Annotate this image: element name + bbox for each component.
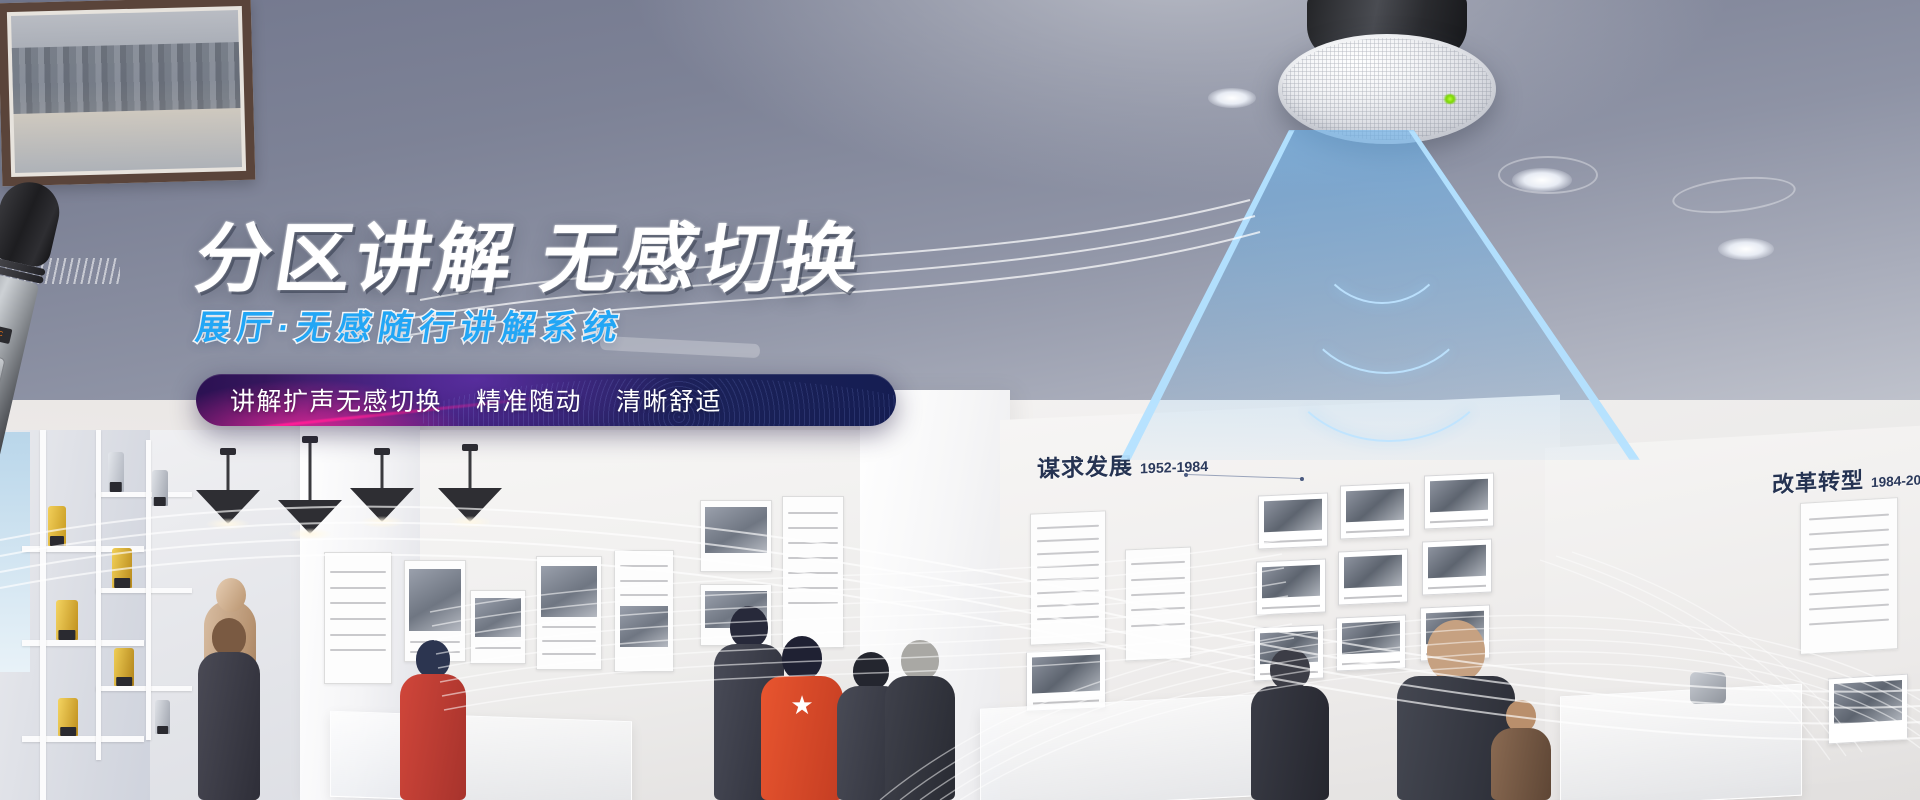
banner-title-right: 无感切换 xyxy=(535,217,868,302)
shelf-upright xyxy=(40,430,46,800)
display-artifact xyxy=(1690,672,1726,704)
feature-item-3: 清晰舒适 xyxy=(616,382,722,418)
wall-heading-text: 谋求发展 xyxy=(1037,453,1133,482)
visitor xyxy=(1250,648,1330,800)
display-case xyxy=(1560,684,1802,800)
exhibit-panel xyxy=(1800,497,1898,655)
sound-wave-arc-icon xyxy=(1278,258,1500,442)
feature-item-2: 精准随动 xyxy=(476,382,582,418)
exhibit-panel xyxy=(470,590,526,664)
ceiling-speaker xyxy=(1278,34,1496,144)
exhibit-photo xyxy=(1258,492,1328,549)
microphone-head xyxy=(0,176,65,269)
exhibit-panel xyxy=(536,556,602,670)
exhibit-panel xyxy=(614,550,674,672)
exhibit-panel xyxy=(1125,547,1191,662)
pendant-lamp-icon xyxy=(350,452,414,520)
exhibit-panel xyxy=(782,496,844,648)
vest-star-icon: ★ xyxy=(790,692,813,718)
ceiling-light-ring-icon xyxy=(1498,156,1598,194)
trophy-shelf xyxy=(96,686,192,691)
banner-subtitle: 展厅·无感随行讲解系统 xyxy=(193,310,959,347)
exhibit-photo xyxy=(1256,558,1326,615)
exhibit-photo xyxy=(1424,472,1494,529)
trophy-shelf xyxy=(96,588,192,593)
exhibition-guide-banner: 谋求发展1952-1984 改革转型1984-2010 xyxy=(0,0,1920,800)
banner-title: 分区讲解无感切换 xyxy=(190,222,962,298)
visitor xyxy=(884,640,956,800)
visitor xyxy=(398,640,468,800)
banner-copy: 分区讲解无感切换 展厅·无感随行讲解系统 讲解扩声无感切换 精准随动 清晰舒适 xyxy=(196,222,956,347)
exhibit-photo xyxy=(1340,482,1410,539)
display-case xyxy=(330,711,632,800)
shelf-upright xyxy=(146,440,151,740)
pendant-lamp-icon xyxy=(278,440,342,532)
shelf-upright xyxy=(96,430,101,760)
pendant-lamp-icon xyxy=(196,452,260,522)
visitor xyxy=(196,618,262,800)
feature-pill[interactable]: 讲解扩声无感切换 精准随动 清晰舒适 xyxy=(196,374,896,426)
feature-item-1: 讲解扩声无感切换 xyxy=(230,382,442,418)
banner-title-left: 分区讲解 xyxy=(189,217,522,302)
exhibit-photo xyxy=(1828,674,1908,745)
framed-painting xyxy=(0,0,255,186)
wall-heading-years: 1984-2010 xyxy=(1871,472,1920,490)
speaker-mesh-grille xyxy=(1282,38,1492,140)
wall-heading-text: 改革转型 xyxy=(1772,467,1864,497)
exhibit-panel xyxy=(700,500,772,572)
visitor-volunteer: ★ xyxy=(760,636,844,800)
exhibit-photo xyxy=(1422,538,1492,595)
ceiling-light-icon xyxy=(1718,238,1774,260)
exhibit-photo xyxy=(1338,548,1408,605)
pendant-lamp-icon xyxy=(438,448,502,520)
visitor xyxy=(1490,700,1552,800)
ceiling-light-icon xyxy=(1208,88,1256,108)
statue-head xyxy=(216,578,246,612)
speaker-led-indicator xyxy=(1443,94,1457,104)
trophy-shelf xyxy=(96,492,192,497)
exhibit-panel xyxy=(324,552,392,684)
